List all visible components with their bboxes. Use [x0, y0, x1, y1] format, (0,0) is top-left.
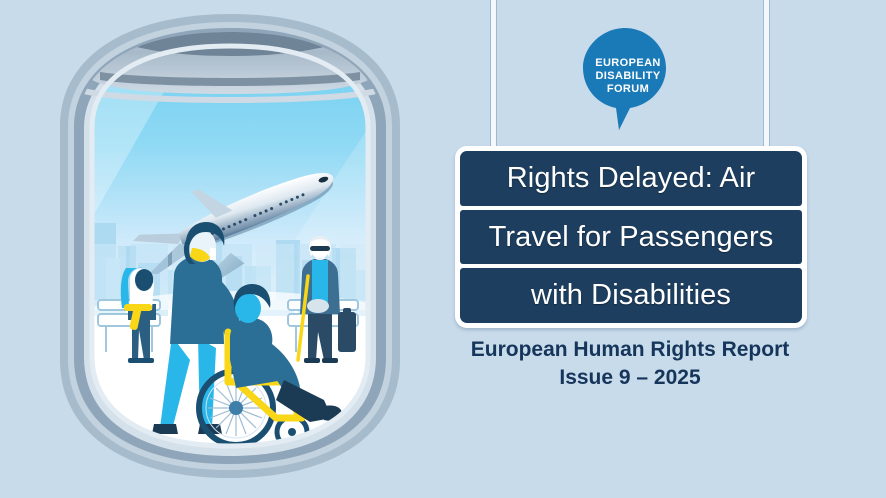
- european-disability-forum-logo: EUROPEAN DISABILITY FORUM: [576, 24, 674, 134]
- title-line-3: with Disabilities: [460, 268, 802, 323]
- report-subtitle: European Human Rights Report Issue 9 – 2…: [420, 336, 840, 392]
- logo-line-2: DISABILITY: [595, 70, 660, 82]
- title-line-2: Travel for Passengers: [460, 210, 802, 265]
- sign-pole-left: [490, 0, 497, 152]
- subtitle-line-2: Issue 9 – 2025: [420, 364, 840, 392]
- logo-line-3: FORUM: [607, 83, 649, 95]
- logo-line-1: EUROPEAN: [595, 57, 661, 69]
- airplane-window-illustration: [40, 8, 420, 490]
- poster-canvas: EUROPEAN DISABILITY FORUM Rights Delayed…: [0, 0, 886, 498]
- sign-pole-right: [763, 0, 770, 152]
- subtitle-line-1: European Human Rights Report: [420, 336, 840, 364]
- title-line-1: Rights Delayed: Air: [460, 151, 802, 206]
- title-sign: Rights Delayed: Air Travel for Passenger…: [455, 146, 807, 328]
